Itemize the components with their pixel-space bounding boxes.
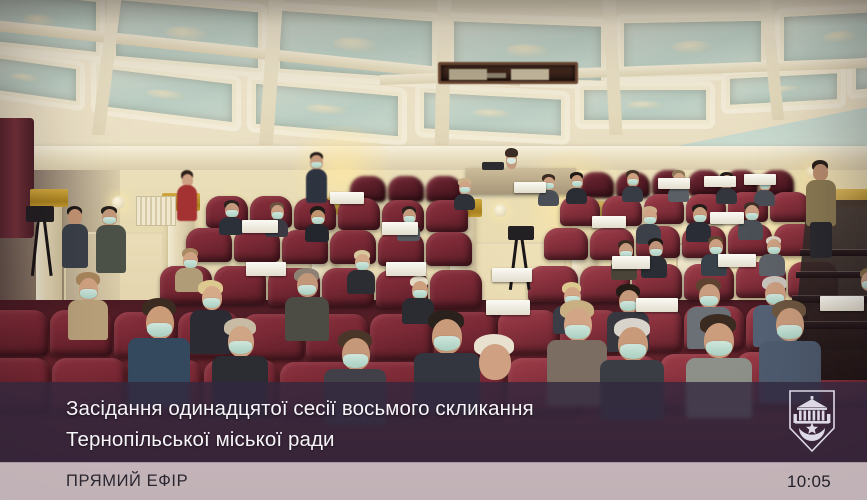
ceiling-cornice-upper [0, 146, 867, 172]
session-title: Засідання одинадцятої сесії восьмого скл… [66, 393, 726, 455]
broadcast-frame: Засідання одинадцятої сесії восьмого скл… [0, 0, 867, 500]
ternopil-coat-of-arms-icon [786, 388, 838, 454]
live-label: ПРЯМИЙ ЕФІР [66, 472, 188, 491]
lower-third-banner: Засідання одинадцятої сесії восьмого скл… [0, 382, 867, 462]
auditorium-ceiling [0, 0, 867, 152]
status-bar: ПРЯМИЙ ЕФІР 10:05 [0, 462, 867, 500]
session-title-line-1: Засідання одинадцятої сесії восьмого скл… [66, 393, 726, 424]
wall-radiator [136, 196, 176, 226]
broadcast-clock: 10:05 [787, 472, 831, 492]
projection-booth-window [438, 62, 578, 84]
session-title-line-2: Тернопільської міської ради [66, 424, 726, 455]
